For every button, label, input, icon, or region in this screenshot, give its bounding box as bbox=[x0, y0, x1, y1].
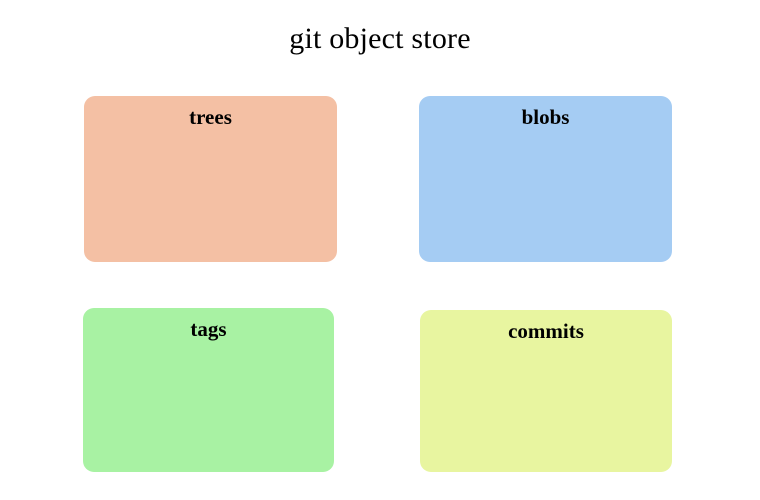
diagram-canvas: git object store trees blobs tags commit… bbox=[0, 0, 760, 500]
object-box-trees[interactable]: trees bbox=[84, 96, 337, 262]
object-box-blobs[interactable]: blobs bbox=[419, 96, 672, 262]
object-box-label-trees: trees bbox=[84, 104, 337, 130]
object-box-label-blobs: blobs bbox=[419, 104, 672, 130]
object-box-tags[interactable]: tags bbox=[83, 308, 334, 472]
object-box-commits[interactable]: commits bbox=[420, 310, 672, 472]
page-title: git object store bbox=[0, 20, 760, 58]
object-box-label-tags: tags bbox=[83, 316, 334, 342]
object-box-label-commits: commits bbox=[420, 318, 672, 344]
